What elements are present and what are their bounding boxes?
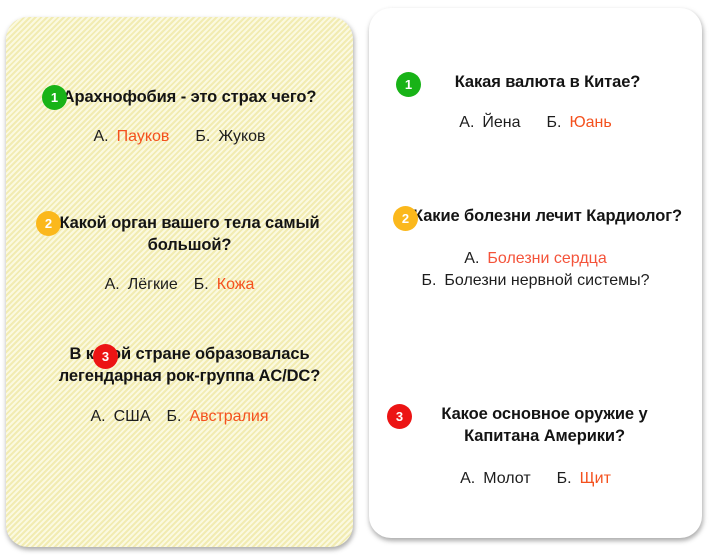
answer-option-a[interactable]: А.Болезни сердца xyxy=(464,250,606,267)
answer-list-left-3: А.СШАБ.Австралия xyxy=(6,406,353,428)
question-text: Какое основное оружие у Капитана Америки… xyxy=(369,404,702,448)
question-header-left-3: 3 В какой стране образовалась легендарна… xyxy=(6,344,353,388)
answer-label-b: Б. xyxy=(547,114,562,131)
answer-option-a[interactable]: А.Пауков xyxy=(93,128,169,145)
question-header-right-2: 2 Какие болезни лечит Кардиолог? xyxy=(369,206,702,228)
answer-option-b[interactable]: Б.Юань xyxy=(547,114,612,131)
answer-list-left-1: А.ПауковБ.Жуков xyxy=(6,126,353,148)
question-block-left-2[interactable]: 2 Какой орган вашего тела самый большой?… xyxy=(6,213,353,296)
question-block-left-3[interactable]: 3 В какой стране образовалась легендарна… xyxy=(6,344,353,428)
question-number-badge: 3 xyxy=(387,404,412,429)
answer-option-b[interactable]: Б.Болезни нервной системы? xyxy=(421,272,649,289)
answer-text-b: Австралия xyxy=(189,408,268,425)
quiz-board: 1 Арахнофобия - это страх чего? А.Пауков… xyxy=(0,0,721,559)
answer-text-b: Болезни нервной системы? xyxy=(444,272,649,289)
answer-text-a: США xyxy=(114,408,151,425)
question-text: Какие болезни лечит Кардиолог? xyxy=(369,206,702,228)
answer-label-b: Б. xyxy=(167,408,182,425)
answer-label-a: А. xyxy=(93,128,108,145)
question-block-right-3[interactable]: 3 Какое основное оружие у Капитана Амери… xyxy=(369,404,702,490)
answer-label-b: Б. xyxy=(194,276,209,293)
question-block-right-1[interactable]: 1 Какая валюта в Китае? А.ЙенаБ.Юань xyxy=(369,72,702,134)
quiz-card-left[interactable]: 1 Арахнофобия - это страх чего? А.Пауков… xyxy=(6,17,353,547)
answer-label-a: А. xyxy=(105,276,120,293)
question-number-badge: 1 xyxy=(42,85,67,110)
answer-label-a: А. xyxy=(464,250,479,267)
answer-option-b[interactable]: Б.Щит xyxy=(557,470,611,487)
answer-text-a: Пауков xyxy=(117,128,170,145)
answer-text-a: Молот xyxy=(483,470,530,487)
answer-text-b: Щит xyxy=(580,470,611,487)
answer-label-a: А. xyxy=(90,408,105,425)
answer-option-a[interactable]: А.США xyxy=(90,408,150,425)
answer-text-a: Болезни сердца xyxy=(487,250,606,267)
question-block-right-2[interactable]: 2 Какие болезни лечит Кардиолог? А.Болез… xyxy=(369,206,702,292)
answer-list-left-2: А.ЛёгкиеБ.Кожа xyxy=(6,274,353,296)
answer-text-b: Кожа xyxy=(217,276,255,293)
quiz-card-right[interactable]: 1 Какая валюта в Китае? А.ЙенаБ.Юань 2 К… xyxy=(369,8,702,538)
answer-label-b: Б. xyxy=(557,470,572,487)
card-right-content: 1 Какая валюта в Китае? А.ЙенаБ.Юань 2 К… xyxy=(369,8,702,538)
answer-option-b[interactable]: Б.Кожа xyxy=(194,276,255,293)
question-number-badge: 2 xyxy=(393,206,418,231)
question-header-right-3: 3 Какое основное оружие у Капитана Амери… xyxy=(369,404,702,448)
answer-label-a: А. xyxy=(460,470,475,487)
question-number-badge: 1 xyxy=(396,72,421,97)
answer-list-right-1: А.ЙенаБ.Юань xyxy=(369,112,702,134)
answer-label-b: Б. xyxy=(421,272,436,289)
answer-label-b: Б. xyxy=(195,128,210,145)
answer-option-a[interactable]: А.Лёгкие xyxy=(105,276,178,293)
question-number-badge: 2 xyxy=(36,211,61,236)
answer-option-b[interactable]: Б.Австралия xyxy=(167,408,269,425)
answer-text-b: Жуков xyxy=(218,128,265,145)
answer-text-a: Лёгкие xyxy=(128,276,178,293)
question-number-badge: 3 xyxy=(93,344,118,369)
answer-label-a: А. xyxy=(459,114,474,131)
answer-text-b: Юань xyxy=(569,114,611,131)
answer-list-right-3: А.МолотБ.Щит xyxy=(369,468,702,490)
question-block-left-1[interactable]: 1 Арахнофобия - это страх чего? А.Пауков… xyxy=(6,87,353,148)
question-header-right-1: 1 Какая валюта в Китае? xyxy=(369,72,702,94)
card-left-content: 1 Арахнофобия - это страх чего? А.Пауков… xyxy=(6,17,353,547)
answer-option-a[interactable]: А.Молот xyxy=(460,470,531,487)
question-text: В какой стране образовалась легендарная … xyxy=(6,344,353,388)
question-header-left-2: 2 Какой орган вашего тела самый большой? xyxy=(6,213,353,257)
answer-text-a: Йена xyxy=(482,114,520,131)
answer-list-right-2: А.Болезни сердцаБ.Болезни нервной систем… xyxy=(369,248,702,292)
question-header-left-1: 1 Арахнофобия - это страх чего? xyxy=(6,87,353,109)
answer-option-a[interactable]: А.Йена xyxy=(459,114,520,131)
answer-option-b[interactable]: Б.Жуков xyxy=(195,128,265,145)
